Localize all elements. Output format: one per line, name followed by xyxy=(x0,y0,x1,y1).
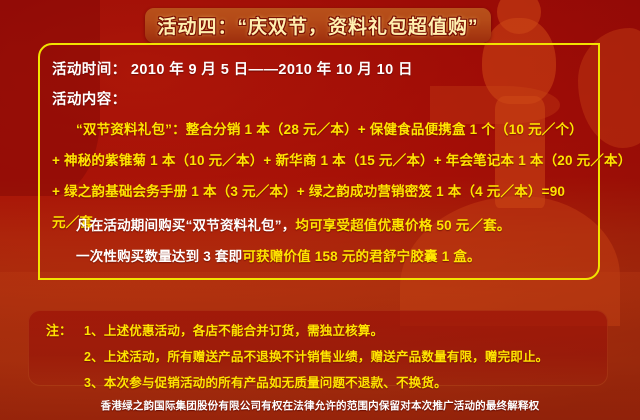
footer-disclaimer: 香港绿之韵国际集团股份有限公司有权在法律允许的范围内保留对本次推广活动的最终解释… xyxy=(0,398,640,413)
promo-line-2: 一次性购买数量达到 3 套即可获赠价值 158 元的君舒宁胶囊 1 盒。 xyxy=(52,245,511,265)
note-item: 3、本次参与促销活动的所有产品如无质量问题不退款、不换货。 xyxy=(84,372,548,391)
package-line-2: + 神秘的紫锥菊 1 本（10 元／本）+ 新华商 1 本（15 元／本）+ 年… xyxy=(52,149,631,169)
event-content-label: 活动内容： xyxy=(52,88,413,109)
promo-line-2-yellow: 可获赠价值 158 元的君舒宁胶囊 1 盒。 xyxy=(242,249,480,264)
event-time-line: 活动时间： 2010 年 9 月 5 日——2010 年 10 月 10 日 xyxy=(52,58,413,79)
promo-line-1-yellow: 均可享受超值优惠价格 50 元／套。 xyxy=(295,218,510,233)
package-line-1: “双节资料礼包”：整合分销 1 本（28 元／本）+ 保健食品便携盒 1 个（1… xyxy=(52,118,631,138)
promo-line-1: 凡在活动期间购买“双节资料礼包”，均可享受超值优惠价格 50 元／套。 xyxy=(52,214,511,234)
poster-title: 活动四：“庆双节，资料礼包超值购” xyxy=(157,12,478,39)
promo-line-2-white: 一次性购买数量达到 3 套即 xyxy=(76,249,242,264)
note-item: 2、上述活动，所有赠送产品不退换不计销售业绩，赠送产品数量有限，赠完即止。 xyxy=(84,346,548,365)
notes-panel: 注： 1、上述优惠活动，各店不能合并订货，需独立核算。 2、上述活动，所有赠送产… xyxy=(28,310,608,386)
notes-label: 注： xyxy=(46,320,72,339)
note-item: 1、上述优惠活动，各店不能合并订货，需独立核算。 xyxy=(84,320,548,339)
event-time-block: 活动时间： 2010 年 9 月 5 日——2010 年 10 月 10 日 活… xyxy=(52,58,413,109)
notes-inner: 注： 1、上述优惠活动，各店不能合并订货，需独立核算。 2、上述活动，所有赠送产… xyxy=(46,320,548,391)
notes-list: 1、上述优惠活动，各店不能合并订货，需独立核算。 2、上述活动，所有赠送产品不退… xyxy=(84,320,548,391)
promo-poster: 活动四：“庆双节，资料礼包超值购” 活动时间： 2010 年 9 月 5 日——… xyxy=(0,0,640,420)
content-area: 活动时间： 2010 年 9 月 5 日——2010 年 10 月 10 日 活… xyxy=(52,58,592,270)
package-line-3: + 绿之韵基础会务手册 1 本（3 元／本）+ 绿之韵成功营销密笈 1 本（4 … xyxy=(52,180,631,200)
promo-offer-block: 凡在活动期间购买“双节资料礼包”，均可享受超值优惠价格 50 元／套。 一次性购… xyxy=(52,214,511,276)
title-banner: 活动四：“庆双节，资料礼包超值购” xyxy=(145,8,491,43)
promo-line-1-white: 凡在活动期间购买“双节资料礼包”， xyxy=(76,218,295,233)
